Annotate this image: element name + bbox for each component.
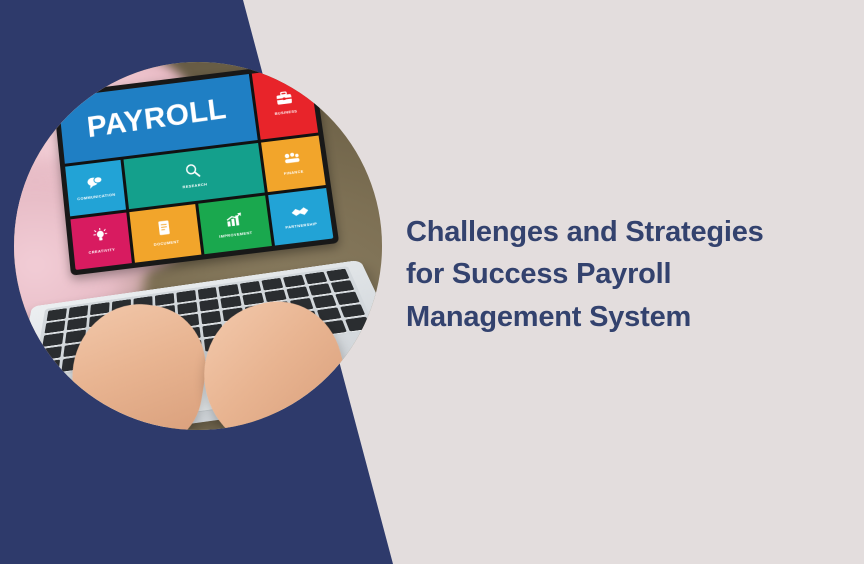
tile-label: PARTNERSHIP [285,221,317,230]
tile-business[interactable]: BUSINESS [251,67,318,140]
laptop: PAYROLL BUSINESS [14,62,382,430]
tile-improvement[interactable]: IMPROVEMENT [198,196,271,255]
laptop-screen-bezel: PAYROLL BUSINESS [53,62,339,276]
coins-icon [283,151,302,170]
bar-chart-icon [225,212,244,232]
tile-finance[interactable]: FINANCE [261,135,326,192]
tile-label: FINANCE [284,169,304,176]
tile-document[interactable]: DOCUMENT [129,204,201,263]
tile-communication[interactable]: COMMUNICATION [65,160,126,216]
payroll-title: PAYROLL [86,92,229,145]
tile-creativity[interactable]: CREATIVITY [70,213,131,270]
tile-label: DOCUMENT [153,239,179,247]
laptop-screen: PAYROLL BUSINESS [58,67,333,270]
document-icon [157,220,172,241]
handshake-icon [290,204,310,222]
briefcase-icon [275,90,293,109]
lightbulb-icon [93,228,109,249]
chat-bubble-icon [86,176,104,195]
headline-line-1: Challenges and Strategies [406,211,836,253]
tile-label: COMMUNICATION [77,192,116,201]
headline-line-3: Management System [406,296,836,338]
laptop-photo-circle: PAYROLL BUSINESS [14,62,382,430]
headline-line-2: for Success Payroll [406,253,836,295]
blog-header-banner: PAYROLL BUSINESS [0,0,864,564]
magnifier-icon [184,163,201,184]
tile-label: IMPROVEMENT [219,230,253,239]
tile-partnership[interactable]: PARTNERSHIP [268,188,334,246]
tile-label: CREATIVITY [88,247,115,255]
tile-label: RESEARCH [182,182,207,190]
page-title: Challenges and Strategies for Success Pa… [406,211,836,337]
